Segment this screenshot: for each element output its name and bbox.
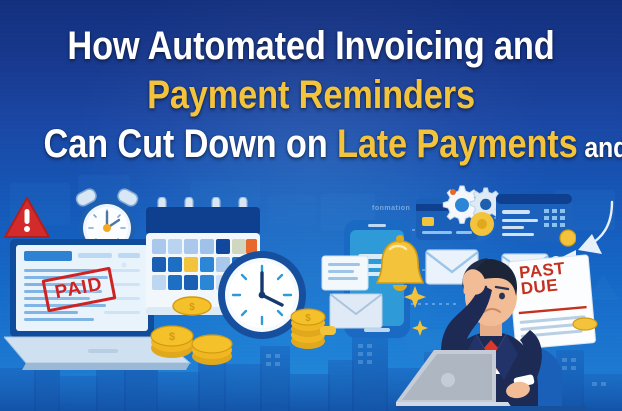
headline-line-1-text: How Automated Invoicing and (67, 24, 554, 68)
svg-text:$: $ (189, 302, 195, 313)
warning-triangle-icon (4, 196, 50, 240)
headline-line-1: How Automated Invoicing and (44, 26, 579, 66)
headline-block: How Automated Invoicing and Payment Remi… (0, 26, 622, 164)
headline-line-3-part3: and (578, 132, 622, 164)
past-due-text: PAST DUE (518, 261, 567, 298)
decorative-text: fonmation (372, 205, 410, 212)
poster-canvas: PAID (0, 0, 622, 411)
svg-text:$: $ (169, 331, 175, 343)
headline-line-2-text: Payment Reminders (147, 73, 475, 117)
headline-line-2: Payment Reminders (44, 75, 579, 115)
headline-line-3-part1: Can Cut Down on (44, 122, 337, 166)
coin-stacks: $ $ (150, 292, 280, 366)
svg-text:$: $ (305, 313, 311, 324)
headline-line-3-part2: Late Payments (337, 122, 578, 166)
headline-line-3: Can Cut Down on Late Payments and Debt (44, 124, 579, 164)
